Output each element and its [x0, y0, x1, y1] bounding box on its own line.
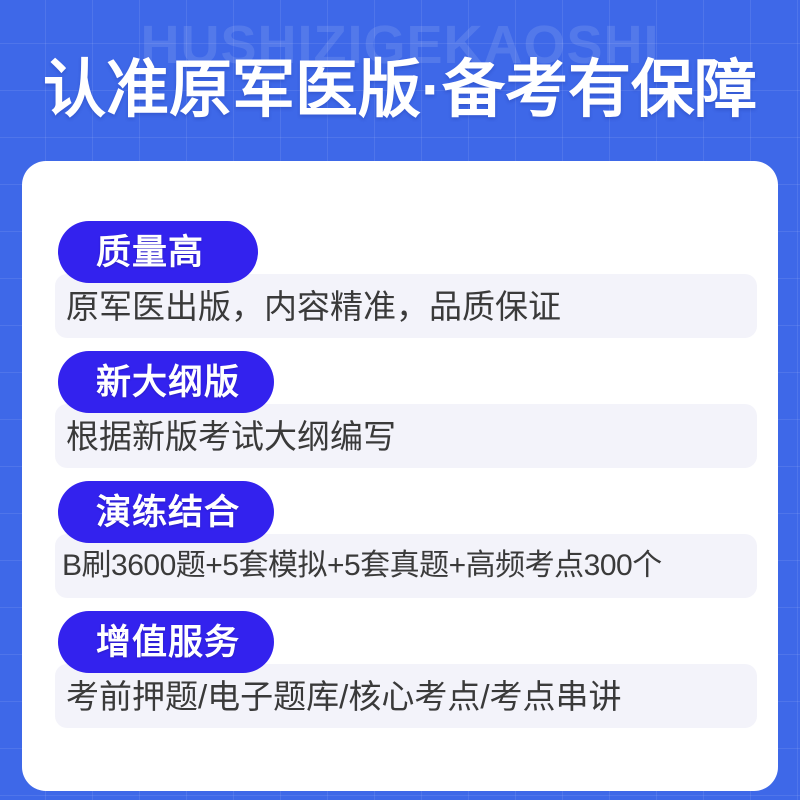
feature-badge-label: 增值服务	[96, 625, 240, 660]
feature-badge: 演练结合	[58, 481, 274, 543]
promo-poster: HUSHIZIGEKAOSHI 认准原军医版·备考有保障 原军医出版，内容精准，…	[0, 0, 800, 800]
feature-badge: 增值服务	[58, 611, 274, 673]
feature-description-text: 考前押题/电子题库/核心考点/考点串讲	[55, 664, 757, 728]
feature-description-strip: 原军医出版，内容精准，品质保证	[55, 274, 757, 338]
page-title: 认准原军医版·备考有保障	[0, 56, 800, 124]
feature-badge-label: 新大纲版	[96, 365, 240, 400]
feature-badge-label: 质量高	[96, 235, 204, 270]
feature-row: 考前押题/电子题库/核心考点/考点串讲 增值服务	[22, 611, 778, 741]
feature-badge-label: 演练结合	[96, 495, 240, 530]
feature-description-strip: 考前押题/电子题库/核心考点/考点串讲	[55, 664, 757, 728]
feature-description-text: B刷3600题+5套模拟+5套真题+高频考点300个	[55, 534, 757, 598]
feature-description-strip: 根据新版考试大纲编写	[55, 404, 757, 468]
feature-row: 原军医出版，内容精准，品质保证 质量高	[22, 221, 778, 351]
feature-row: 根据新版考试大纲编写 新大纲版	[22, 351, 778, 481]
feature-badge: 质量高	[58, 221, 258, 283]
poster-header: HUSHIZIGEKAOSHI 认准原军医版·备考有保障	[0, 0, 800, 163]
feature-description-text: 根据新版考试大纲编写	[55, 404, 757, 468]
feature-description-text: 原军医出版，内容精准，品质保证	[55, 274, 757, 338]
feature-description-strip: B刷3600题+5套模拟+5套真题+高频考点300个	[55, 534, 757, 598]
feature-row: B刷3600题+5套模拟+5套真题+高频考点300个 演练结合	[22, 481, 778, 611]
feature-row-list: 原军医出版，内容精准，品质保证 质量高 根据新版考试大纲编写 新大纲版 B刷36…	[22, 161, 778, 741]
feature-badge: 新大纲版	[58, 351, 274, 413]
features-card: 原军医出版，内容精准，品质保证 质量高 根据新版考试大纲编写 新大纲版 B刷36…	[22, 161, 778, 791]
